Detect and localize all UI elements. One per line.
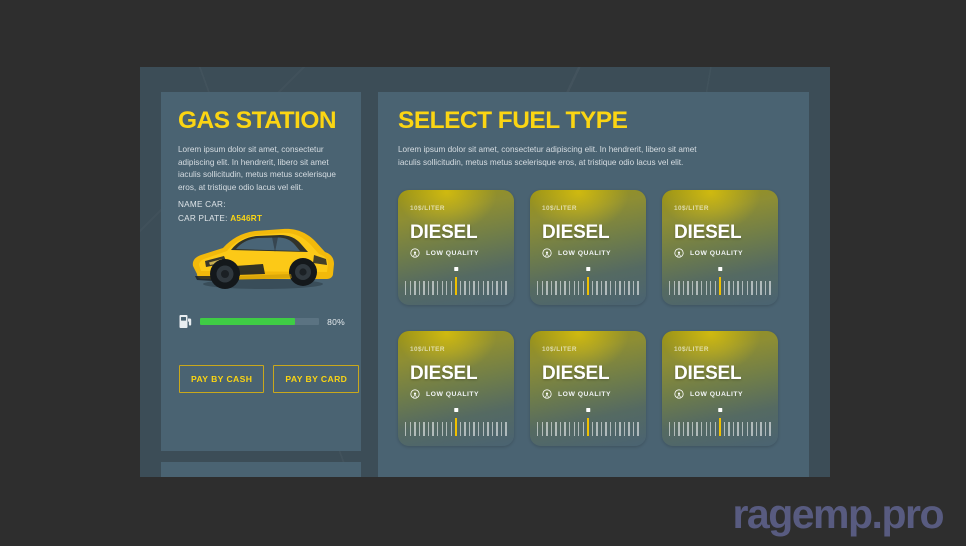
fuel-type-card[interactable]: 10$/LITERDIESELLOW QUALITY bbox=[662, 331, 778, 446]
name-car-label: NAME CAR: bbox=[178, 200, 226, 209]
fuel-price-label: 10$/LITER bbox=[674, 205, 709, 212]
fuel-type-grid: 10$/LITERDIESELLOW QUALITY10$/LITERDIESE… bbox=[398, 190, 789, 446]
fuel-quality-label: LOW QUALITY bbox=[690, 250, 743, 257]
fuel-type-name: DIESEL bbox=[410, 364, 477, 383]
fuel-selection-title: SELECT FUEL TYPE bbox=[398, 109, 797, 133]
fuel-price-label: 10$/LITER bbox=[410, 346, 445, 353]
watermark: ragemp.pro bbox=[732, 491, 943, 538]
fuel-type-card[interactable]: 10$/LITERDIESELLOW QUALITY bbox=[398, 331, 514, 446]
fuel-type-card[interactable]: 10$/LITERDIESELLOW QUALITY bbox=[398, 190, 514, 305]
slider-ticks bbox=[537, 418, 639, 436]
fuel-level-fill bbox=[200, 318, 295, 325]
slider-ticks bbox=[669, 418, 771, 436]
fuel-level-bar bbox=[200, 318, 319, 325]
slider-handle[interactable] bbox=[586, 408, 590, 412]
fuel-quality-row: LOW QUALITY bbox=[542, 248, 611, 258]
fuel-quality-label: LOW QUALITY bbox=[558, 391, 611, 398]
pay-by-cash-button[interactable]: PAY BY CASH bbox=[179, 365, 264, 393]
slider-handle[interactable] bbox=[718, 408, 722, 412]
fuel-quality-row: LOW QUALITY bbox=[674, 248, 743, 258]
fuel-quality-label: LOW QUALITY bbox=[690, 391, 743, 398]
slider-ticks bbox=[669, 277, 771, 295]
fuel-price-label: 10$/LITER bbox=[410, 205, 445, 212]
slider-ticks bbox=[537, 277, 639, 295]
name-car-row: NAME CAR: bbox=[178, 200, 344, 209]
gas-station-window: GAS STATION Lorem ipsum dolor sit amet, … bbox=[140, 67, 830, 477]
fuel-quality-row: LOW QUALITY bbox=[542, 389, 611, 399]
fuel-pump-icon bbox=[179, 314, 192, 329]
payment-buttons: PAY BY CASH PAY BY CARD bbox=[179, 365, 359, 393]
page-title: GAS STATION bbox=[178, 109, 347, 133]
fuel-amount-slider[interactable] bbox=[537, 408, 639, 436]
slider-handle[interactable] bbox=[454, 408, 458, 412]
fuel-type-name: DIESEL bbox=[674, 364, 741, 383]
fuel-selection-description: Lorem ipsum dolor sit amet, consectetur … bbox=[398, 144, 698, 169]
quality-gauge-icon bbox=[542, 389, 552, 399]
fuel-quality-label: LOW QUALITY bbox=[426, 250, 479, 257]
quality-gauge-icon bbox=[674, 248, 684, 258]
fuel-amount-slider[interactable] bbox=[405, 267, 507, 295]
left-panel-description: Lorem ipsum dolor sit amet, consectetur … bbox=[178, 144, 344, 195]
fuel-price-label: 10$/LITER bbox=[542, 205, 577, 212]
quality-gauge-icon bbox=[410, 389, 420, 399]
fuel-type-name: DIESEL bbox=[542, 364, 609, 383]
fuel-type-card[interactable]: 10$/LITERDIESELLOW QUALITY bbox=[662, 190, 778, 305]
total-price-panel: TOTAL PRICE FOR GASOLINE 800$ bbox=[161, 462, 361, 477]
slider-ticks bbox=[405, 418, 507, 436]
fuel-quality-label: LOW QUALITY bbox=[558, 250, 611, 257]
slider-handle[interactable] bbox=[586, 267, 590, 271]
slider-handle[interactable] bbox=[718, 267, 722, 271]
fuel-selection-panel: SELECT FUEL TYPE Lorem ipsum dolor sit a… bbox=[378, 92, 809, 477]
fuel-type-name: DIESEL bbox=[542, 223, 609, 242]
fuel-type-name: DIESEL bbox=[674, 223, 741, 242]
fuel-quality-label: LOW QUALITY bbox=[426, 391, 479, 398]
fuel-amount-slider[interactable] bbox=[669, 267, 771, 295]
fuel-type-name: DIESEL bbox=[410, 223, 477, 242]
quality-gauge-icon bbox=[674, 389, 684, 399]
fuel-amount-slider[interactable] bbox=[669, 408, 771, 436]
fuel-price-label: 10$/LITER bbox=[674, 346, 709, 353]
pay-by-card-button[interactable]: PAY BY CARD bbox=[273, 365, 359, 393]
fuel-type-card[interactable]: 10$/LITERDIESELLOW QUALITY bbox=[530, 331, 646, 446]
fuel-type-card[interactable]: 10$/LITERDIESELLOW QUALITY bbox=[530, 190, 646, 305]
slider-ticks bbox=[405, 277, 507, 295]
fuel-quality-row: LOW QUALITY bbox=[410, 248, 479, 258]
vehicle-info-panel: GAS STATION Lorem ipsum dolor sit amet, … bbox=[161, 92, 361, 451]
fuel-percent-label: 80% bbox=[327, 317, 345, 327]
fuel-amount-slider[interactable] bbox=[537, 267, 639, 295]
slider-handle[interactable] bbox=[454, 267, 458, 271]
yellow-sports-car-image bbox=[179, 214, 343, 294]
fuel-gauge: 80% bbox=[179, 314, 345, 329]
fuel-quality-row: LOW QUALITY bbox=[674, 389, 743, 399]
quality-gauge-icon bbox=[410, 248, 420, 258]
fuel-quality-row: LOW QUALITY bbox=[410, 389, 479, 399]
quality-gauge-icon bbox=[542, 248, 552, 258]
fuel-price-label: 10$/LITER bbox=[542, 346, 577, 353]
fuel-amount-slider[interactable] bbox=[405, 408, 507, 436]
